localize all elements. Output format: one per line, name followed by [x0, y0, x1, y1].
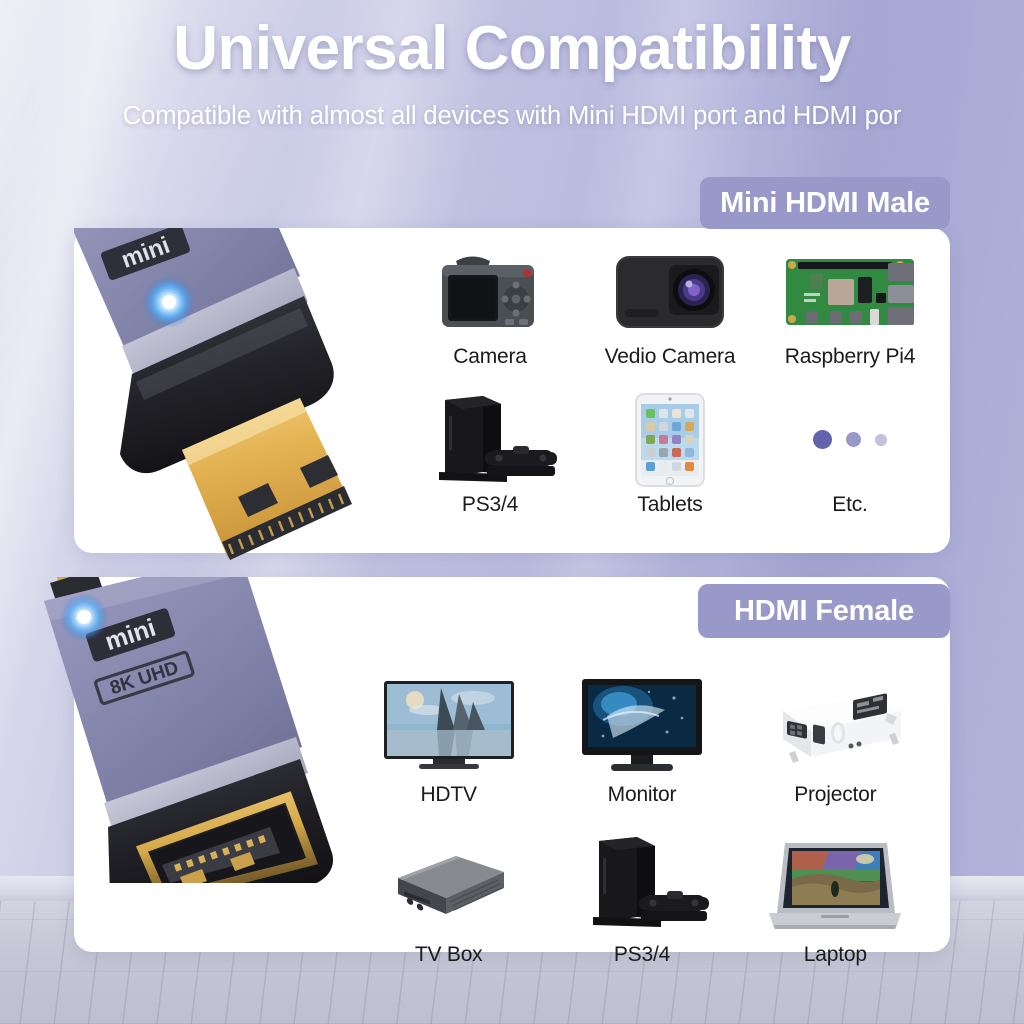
etc-dots-icon [813, 394, 887, 486]
device-label: HDTV [420, 783, 476, 807]
tv-box-icon [384, 836, 514, 936]
device-label: PS3/4 [614, 943, 670, 967]
laptop-icon [769, 836, 901, 936]
mini-hdmi-male-connector-image: 8K UHD mini [32, 150, 362, 510]
camera-icon [430, 246, 550, 338]
device-label: Tablets [637, 493, 702, 517]
device-video-camera: Vedio Camera [580, 246, 760, 394]
device-label: PS3/4 [462, 493, 518, 517]
hdmi-female-connector-image: mini 8K UHD [44, 565, 334, 915]
svg-text:8K UHD: 8K UHD [101, 185, 163, 221]
device-tv-box: TV Box [352, 836, 545, 996]
device-label: Camera [453, 345, 527, 369]
playstation-icon [423, 394, 557, 486]
monitor-icon [579, 676, 705, 776]
hdtv-icon [381, 676, 517, 776]
device-label: Monitor [608, 783, 677, 807]
device-hdtv: HDTV [352, 676, 545, 836]
device-label: Vedio Camera [605, 345, 736, 369]
device-label: Laptop [804, 943, 867, 967]
device-grid-hdmi-female: HDTV Monitor [352, 676, 932, 996]
device-label: TV Box [415, 943, 483, 967]
video-camera-icon [611, 246, 729, 338]
tablet-icon [634, 394, 706, 486]
device-raspberry-pi: Raspberry Pi4 [760, 246, 940, 394]
device-tablet: Tablets [580, 394, 760, 542]
badge-hdmi-female: HDMI Female [698, 584, 950, 638]
badge-mini-hdmi-male: Mini HDMI Male [700, 177, 950, 229]
device-laptop: Laptop [739, 836, 932, 996]
device-label: Etc. [832, 493, 867, 517]
device-playstation: PS3/4 [545, 836, 738, 996]
raspberry-pi-icon [780, 246, 920, 338]
device-label: Projector [794, 783, 876, 807]
device-playstation: PS3/4 [400, 394, 580, 542]
projector-icon [765, 676, 905, 776]
device-monitor: Monitor [545, 676, 738, 836]
device-etc: Etc. [760, 394, 940, 542]
device-grid-mini-hdmi-male: Camera Vedio Camera [400, 246, 940, 541]
device-label: Raspberry Pi4 [785, 345, 915, 369]
device-projector: Projector [739, 676, 932, 836]
page-subtitle: Compatible with almost all devices with … [0, 80, 1024, 131]
device-camera: Camera [400, 246, 580, 394]
playstation-icon [575, 836, 709, 936]
page-title: Universal Compatibility [0, 0, 1024, 80]
header: Universal Compatibility Compatible with … [0, 0, 1024, 131]
